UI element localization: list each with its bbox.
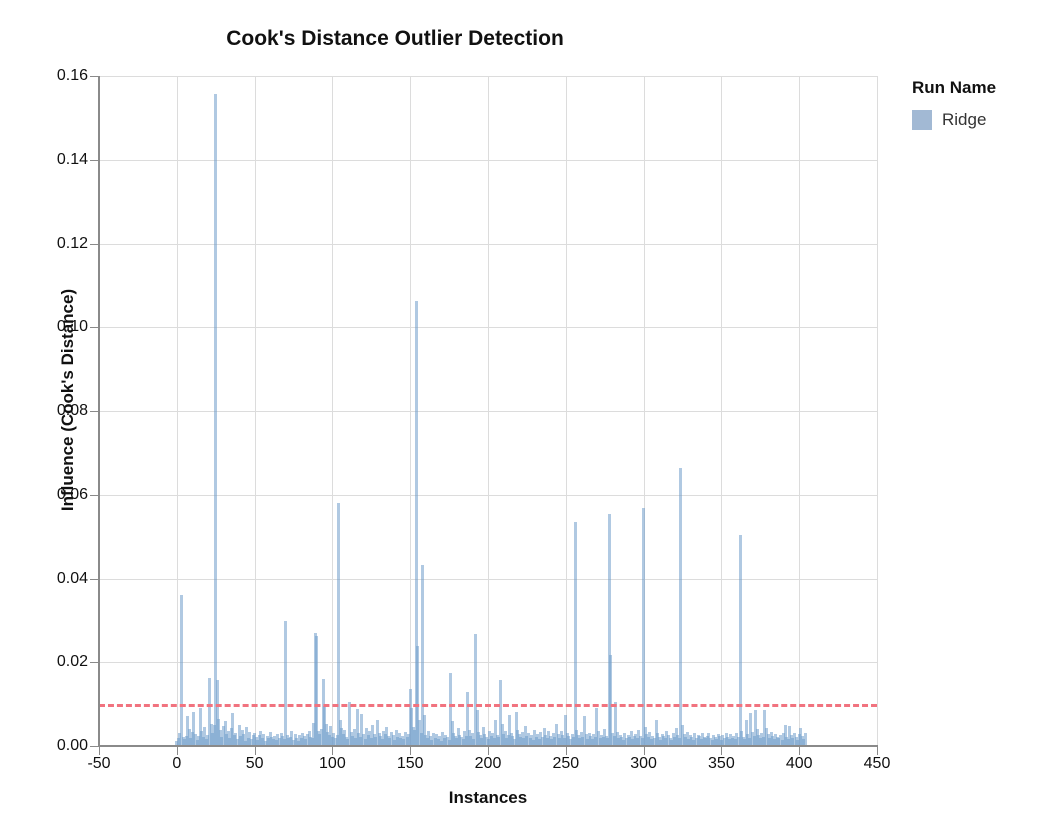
bar [284,621,287,746]
cooks-distance-chart: Cook's Distance Outlier Detection 0.000.… [0,0,1040,840]
y-tick-label: 0.16 [32,67,88,85]
bar [180,595,183,746]
bar [214,94,217,746]
x-tick-label: 100 [297,755,367,773]
x-tick-mark [332,747,333,755]
x-axis-title: Instances [99,788,877,808]
gridline-vertical [566,76,567,746]
y-tick-mark [90,579,98,580]
x-tick-label: 400 [764,755,834,773]
x-tick-mark [99,747,100,755]
x-tick-mark [410,747,411,755]
x-tick-mark [488,747,489,755]
x-tick-label: 50 [220,755,290,773]
legend-item-label: Ridge [942,110,986,130]
x-tick-mark [721,747,722,755]
x-tick-mark [255,747,256,755]
x-tick-label: 0 [142,755,212,773]
legend-item[interactable]: Ridge [912,110,1040,130]
gridline-vertical [799,76,800,746]
gridline-vertical [877,76,878,746]
gridline-vertical [332,76,333,746]
gridline-vertical [255,76,256,746]
plot-area [99,76,877,746]
x-tick-label: 200 [453,755,523,773]
x-tick-label: -50 [64,755,134,773]
y-tick-mark [90,244,98,245]
y-tick-mark [90,160,98,161]
chart-title: Cook's Distance Outlier Detection [0,27,790,51]
x-tick-label: 350 [686,755,756,773]
y-tick-mark [90,327,98,328]
legend: Run Name Ridge [912,78,1040,130]
legend-title: Run Name [912,78,1040,98]
threshold-line [99,704,877,707]
gridline-vertical [488,76,489,746]
legend-entries: Ridge [912,110,1040,130]
x-tick-mark [566,747,567,755]
x-tick-mark [644,747,645,755]
gridline-vertical [721,76,722,746]
x-tick-mark [799,747,800,755]
bar [642,508,645,746]
x-tick-label: 250 [531,755,601,773]
x-tick-label: 450 [842,755,912,773]
x-tick-mark [877,747,878,755]
y-tick-mark [90,662,98,663]
y-tick-mark [90,76,98,77]
x-tick-mark [177,747,178,755]
bar [337,503,340,746]
bar [574,522,577,746]
y-tick-mark [90,411,98,412]
y-tick-label: 0.00 [32,737,88,755]
legend-swatch-icon [912,110,932,130]
y-axis-title: Influence (Cook's Distance) [58,120,78,680]
y-tick-mark [90,746,98,747]
gridline-vertical [410,76,411,746]
y-axis-line [98,76,100,747]
bar [739,535,742,746]
x-tick-label: 300 [609,755,679,773]
y-tick-mark [90,495,98,496]
gridline-vertical [177,76,178,746]
x-tick-label: 150 [375,755,445,773]
